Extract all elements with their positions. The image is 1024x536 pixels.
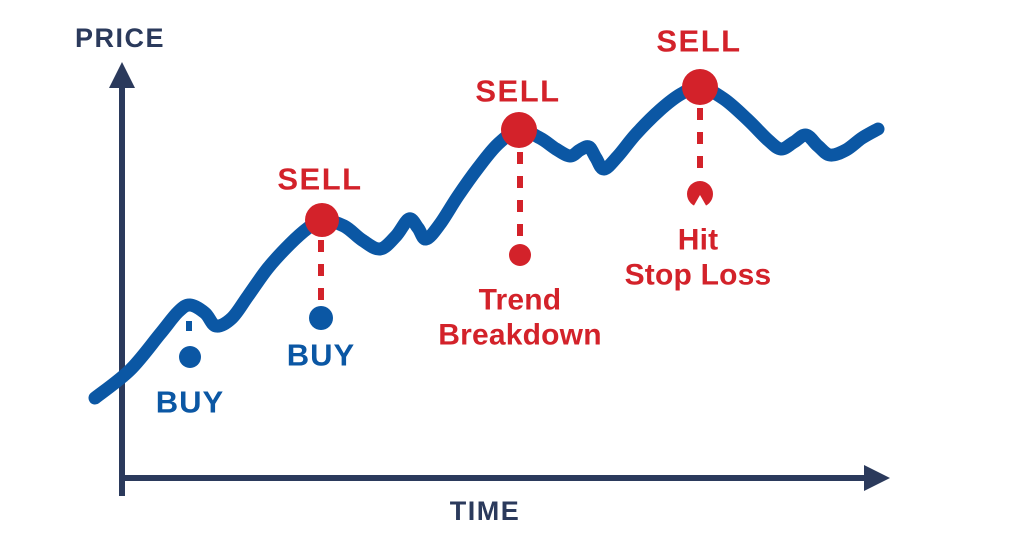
trend-breakdown-label: Trend Breakdown [438,283,602,354]
sell-3-dot[interactable] [682,69,718,105]
sell-1-label: SELL [277,164,362,197]
price-chart-diagram: PRICE TIME BUYSELLBUYSELLTrend Breakdown… [0,0,1024,536]
buy-1-dot[interactable] [179,346,201,368]
buy-2-label: BUY [287,340,355,373]
sell-1-dot[interactable] [305,203,339,237]
hit-stop-loss-label: Hit Stop Loss [625,223,772,294]
sell-3-label: SELL [656,26,741,59]
y-axis-arrowhead [109,62,135,88]
trend-breakdown-dot[interactable] [509,244,531,266]
x-axis-arrowhead [864,465,890,491]
hit-stop-loss-dot[interactable] [687,181,713,209]
buy-2-dot[interactable] [309,306,333,330]
x-axis-label: TIME [450,497,521,525]
sell-2-dot[interactable] [501,112,537,148]
sell-2-label: SELL [475,76,560,109]
y-axis-label: PRICE [75,24,165,52]
axes [109,62,890,496]
buy-1-label: BUY [156,387,224,420]
